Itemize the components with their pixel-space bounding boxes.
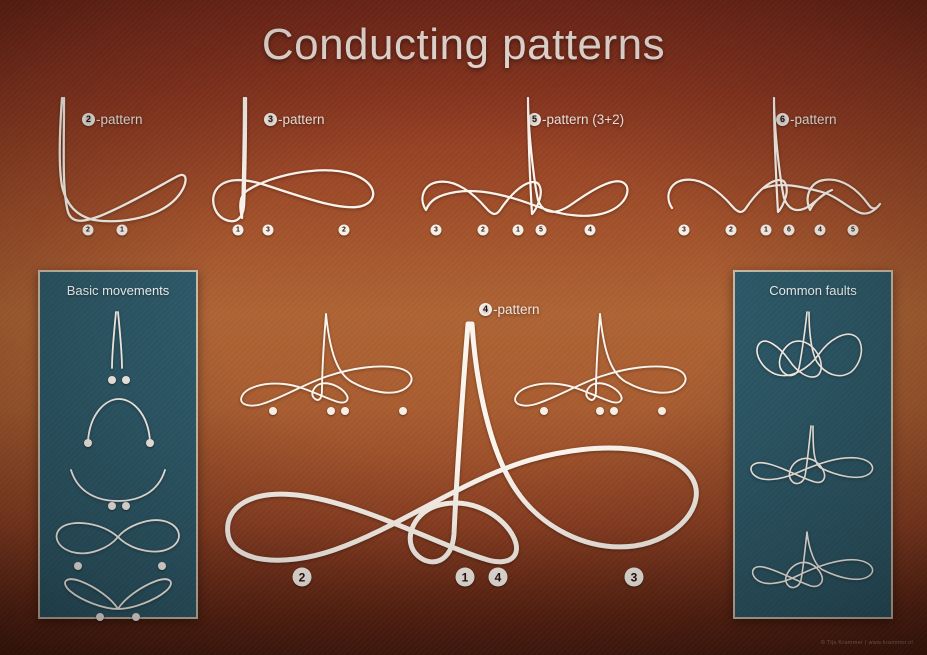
dot-movement-vertical-1 [122,376,130,384]
diagram-movement-figure-eight [52,517,184,557]
diagram-three-pattern [200,120,390,230]
diagram-five-pattern [412,120,642,230]
beat-marker-five-pattern-3: 5 [536,225,547,236]
beat-marker-five-pattern-0: 3 [431,225,442,236]
beat-marker-six-pattern-2: 1 [761,225,772,236]
dot-movement-arch-over-1 [146,439,154,447]
beat-marker-five-pattern-4: 4 [585,225,596,236]
credit-line: © Tijs Krammer | www.krammer.nl [821,640,913,646]
diagram-fault-round-loops [749,310,877,382]
beat-marker-six-pattern-3: 6 [784,225,795,236]
basic-movements-title: Basic movements [40,283,196,298]
common-faults-title: Common faults [735,283,891,298]
beat-marker-two-pattern-1: 1 [117,225,128,236]
dot-movement-arch-under-0 [108,502,116,510]
diagram-movement-double-loop [58,577,178,613]
beat-marker-four-pattern-0: 2 [293,568,312,587]
diagram-four-pattern-main [222,318,702,578]
beat-marker-four-pattern-2: 4 [489,568,508,587]
dot-movement-arch-over-0 [84,439,92,447]
diagram-two-pattern [40,120,200,230]
diagram-fault-uneven-eight [747,530,881,592]
dot-movement-double-loop-1 [132,613,140,621]
dot-movement-double-loop-0 [96,613,104,621]
beat-marker-four-pattern-1: 1 [456,568,475,587]
diagram-movement-arch-under [68,467,168,505]
beat-marker-six-pattern-5: 5 [848,225,859,236]
beat-marker-six-pattern-4: 4 [815,225,826,236]
diagram-movement-vertical-stroke [96,310,140,372]
beat-marker-four-pattern-3: 3 [625,568,644,587]
dot-movement-arch-under-1 [122,502,130,510]
dot-movement-vertical-0 [108,376,116,384]
beat-marker-five-pattern-2: 1 [513,225,524,236]
beat-marker-three-pattern-0: 1 [233,225,244,236]
beat-marker-three-pattern-2: 2 [339,225,350,236]
diagram-fault-flat-eight [745,424,881,490]
common-faults-panel: Common faults [733,270,893,619]
beat-marker-six-pattern-1: 2 [726,225,737,236]
conducting-patterns-poster: Conducting patterns 2-pattern 2 1 3-patt… [0,0,927,655]
beat-marker-three-pattern-1: 3 [263,225,274,236]
dot-movement-figure-eight-0 [74,562,82,570]
badge-four: 4 [479,303,492,316]
diagram-movement-arch-over [80,397,158,443]
beat-marker-five-pattern-1: 2 [478,225,489,236]
page-title: Conducting patterns [0,20,927,70]
label-four-pattern-text: -pattern [493,302,540,317]
basic-movements-panel: Basic movements [38,270,198,619]
label-four-pattern: 4-pattern [479,302,540,317]
beat-marker-two-pattern-0: 2 [83,225,94,236]
diagram-six-pattern [660,120,890,230]
dot-movement-figure-eight-1 [158,562,166,570]
beat-marker-six-pattern-0: 3 [679,225,690,236]
